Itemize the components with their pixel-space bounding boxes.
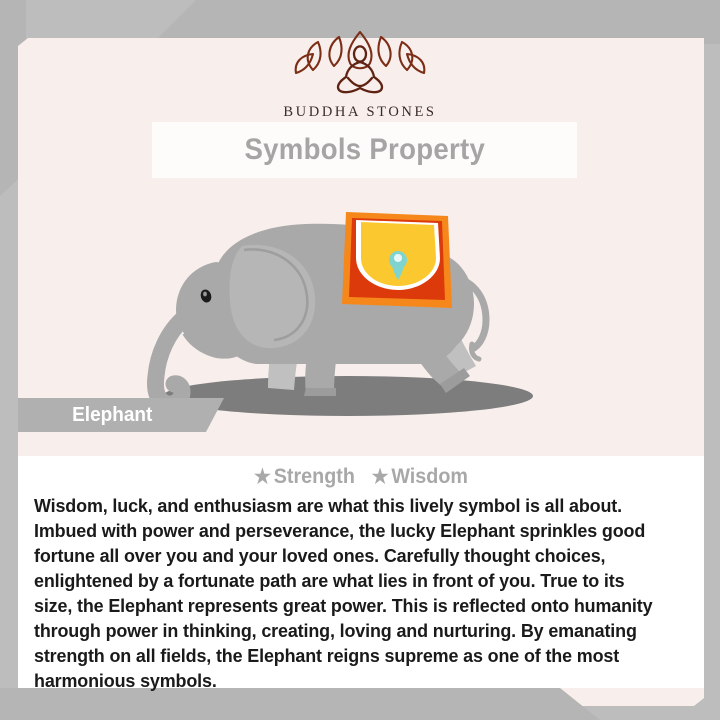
page-title: Symbols Property: [244, 133, 485, 167]
description-panel: ★Strength ★Wisdom Wisdom, luck, and enth…: [18, 456, 704, 688]
symbol-description: Wisdom, luck, and enthusiasm are what th…: [34, 493, 667, 693]
trait-wisdom: ★Wisdom: [372, 465, 468, 488]
lotus-meditation-figure-icon: [280, 26, 440, 98]
elephant-saddle-blanket: [342, 212, 452, 308]
title-band: Symbols Property: [152, 122, 577, 178]
brand-logo: BUDDHA STONES: [0, 26, 720, 121]
star-icon: ★: [372, 466, 389, 488]
star-icon: ★: [254, 466, 271, 488]
symbol-name: Elephant: [72, 404, 152, 427]
brand-name: BUDDHA STONES: [283, 104, 436, 121]
traits-row: ★Strength ★Wisdom: [39, 456, 684, 489]
symbol-name-banner: Elephant: [18, 398, 224, 432]
elephant-shadow: [163, 376, 533, 416]
trait-wisdom-label: Wisdom: [391, 465, 468, 488]
trait-strength: ★Strength: [254, 465, 355, 488]
trait-strength-label: Strength: [274, 465, 355, 488]
poster-canvas: BUDDHA STONES Symbols Property: [0, 0, 720, 720]
